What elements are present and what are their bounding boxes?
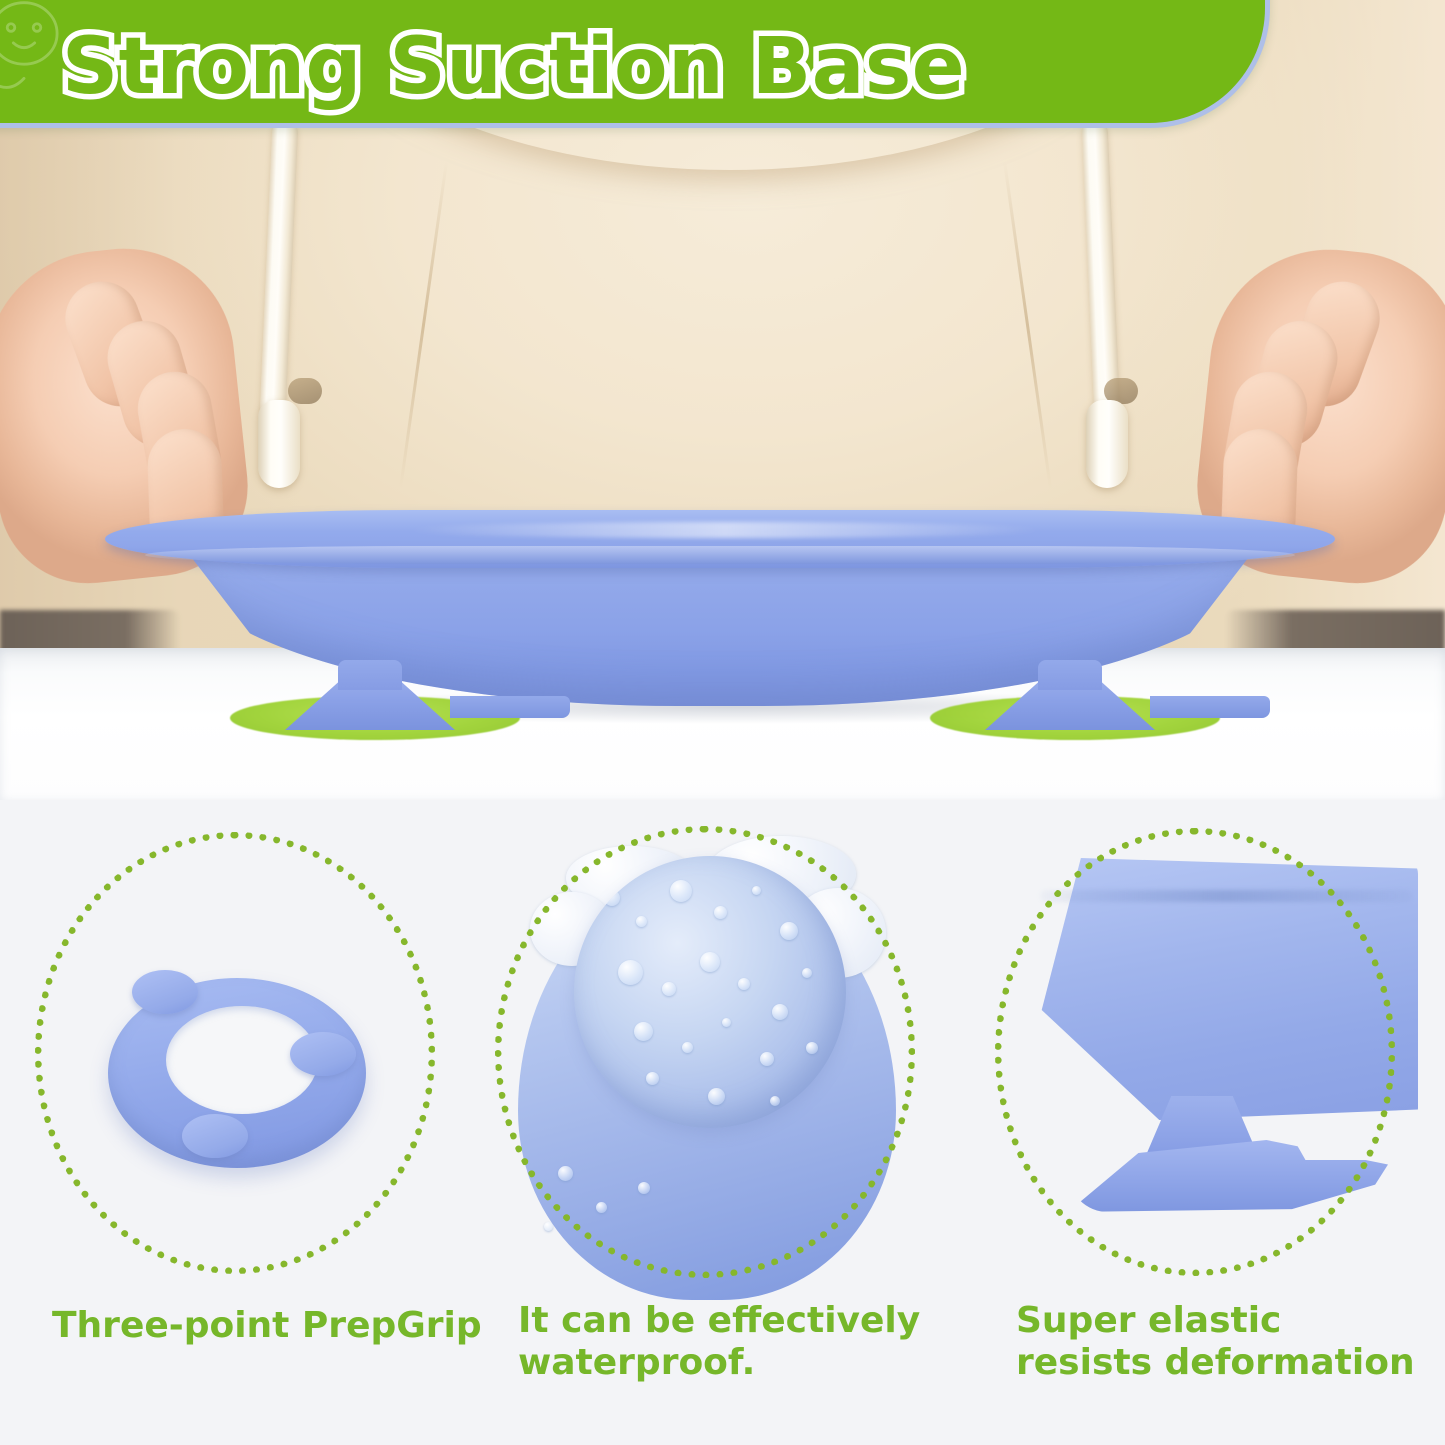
caption-line: It can be effectively	[518, 1300, 940, 1342]
suction-release-tab	[450, 696, 570, 718]
feature-caption-waterproof: It can be effectively waterproof.	[470, 1300, 940, 1384]
feature-caption-three-point-grip: Three-point PrepGrip	[0, 1305, 470, 1347]
suction-release-tab	[1150, 696, 1270, 718]
suction-cup-stem	[338, 660, 402, 690]
drawstring-knot	[288, 378, 322, 404]
caption-line: Three-point PrepGrip	[52, 1305, 470, 1347]
dotted-circle-border	[495, 826, 915, 1278]
feature-card-three-point-grip	[0, 810, 470, 1445]
plate-groove	[145, 546, 1295, 564]
caption-line: resists deformation	[1016, 1342, 1445, 1384]
suction-plate	[105, 500, 1335, 750]
caption-line: waterproof.	[518, 1342, 940, 1384]
feature-caption-super-elastic: Super elastic resists deformation	[960, 1300, 1445, 1384]
caption-line: Super elastic	[1016, 1300, 1445, 1342]
water-droplet	[544, 1222, 553, 1231]
suction-cup-stem	[1038, 660, 1102, 690]
header-banner: Strong Suction Base	[0, 0, 1270, 128]
page-title: Strong Suction Base	[62, 22, 965, 112]
drawstring-aglet	[1086, 400, 1128, 488]
drawstring-aglet	[258, 400, 300, 488]
dotted-circle-border	[35, 832, 435, 1274]
product-infographic-page: Strong Suction Base	[0, 0, 1445, 1445]
dotted-circle-border	[995, 828, 1395, 1276]
plate-highlight	[405, 522, 1045, 538]
